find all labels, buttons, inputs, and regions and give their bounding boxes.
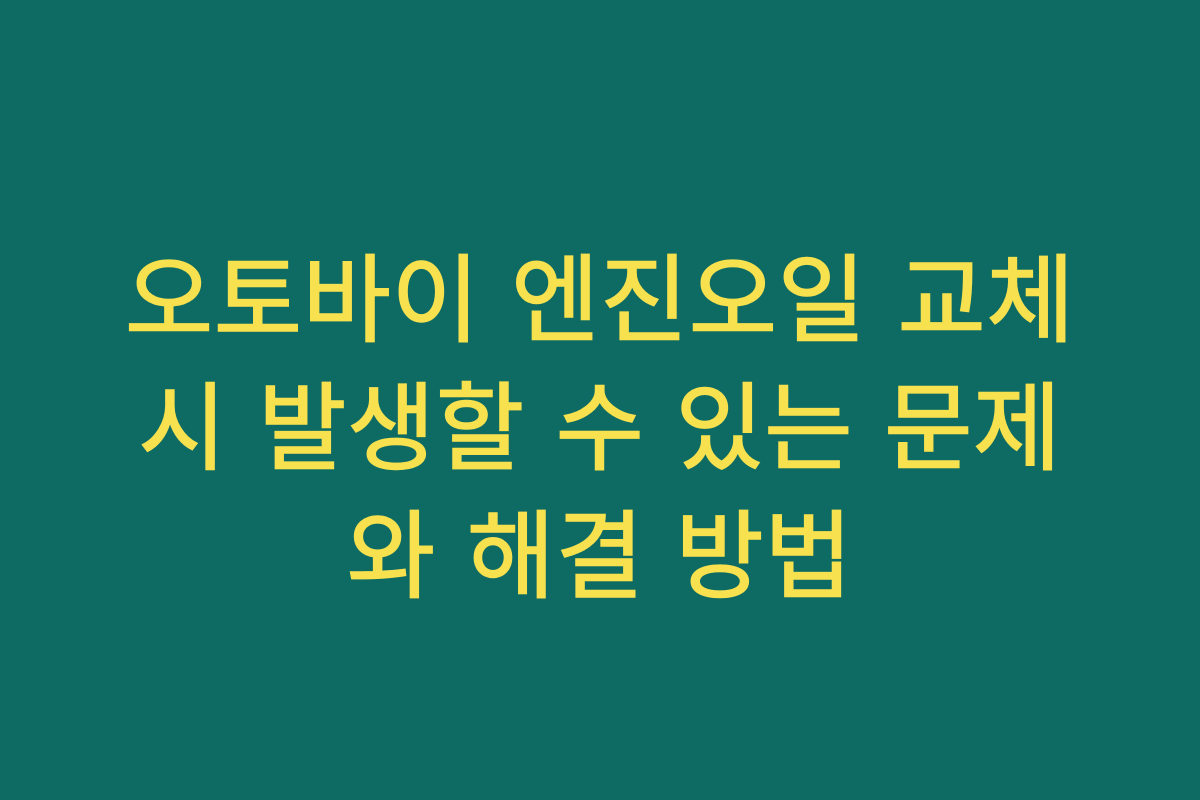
page-title: 오토바이 엔진오일 교체 시 발생할 수 있는 문제 와 해결 방법 bbox=[95, 179, 1105, 621]
title-line-2: 시 발생할 수 있는 문제 bbox=[95, 365, 1105, 493]
title-line-3: 와 해결 방법 bbox=[95, 493, 1105, 621]
title-card: 오토바이 엔진오일 교체 시 발생할 수 있는 문제 와 해결 방법 bbox=[0, 0, 1200, 800]
title-line-1: 오토바이 엔진오일 교체 bbox=[95, 237, 1105, 365]
